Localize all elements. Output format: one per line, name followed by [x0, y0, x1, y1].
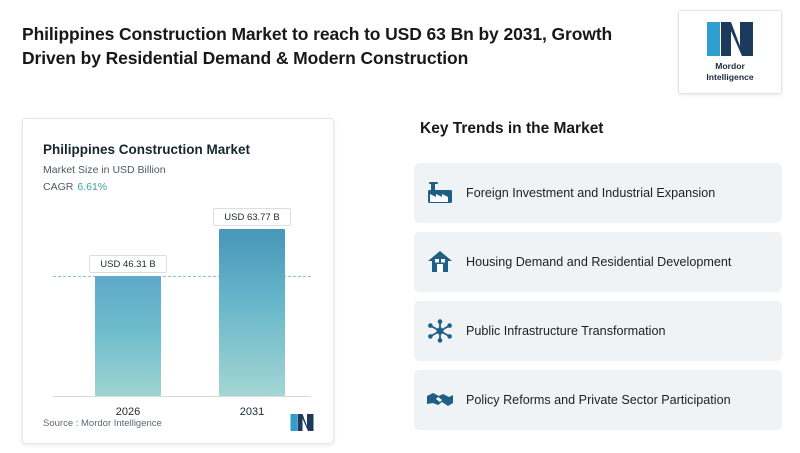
brand-logo: Mordor Intelligence [678, 10, 782, 94]
brand-logo-line1: Mordor [706, 61, 753, 72]
source-logo-icon [289, 414, 315, 431]
list-item[interactable]: Policy Reforms and Private Sector Partic… [414, 370, 782, 430]
bar-value-label-2031: USD 63.77 B [213, 208, 291, 226]
list-item[interactable]: Foreign Investment and Industrial Expans… [414, 163, 782, 223]
brand-logo-text: Mordor Intelligence [706, 61, 753, 82]
list-item[interactable]: Housing Demand and Residential Developme… [414, 232, 782, 292]
page-title: Philippines Construction Market to reach… [22, 22, 662, 70]
chart-plot-area: USD 46.31 B USD 63.77 B 2026 2031 [23, 119, 335, 445]
x-axis-line [53, 396, 311, 397]
trend-label: Foreign Investment and Industrial Expans… [466, 185, 729, 202]
mordor-intelligence-logo-icon [707, 22, 753, 56]
x-tick-2026: 2026 [83, 406, 173, 418]
key-trends-list: Foreign Investment and Industrial Expans… [414, 163, 782, 439]
header: Philippines Construction Market to reach… [0, 0, 800, 104]
network-node-icon [414, 301, 466, 361]
trend-label: Housing Demand and Residential Developme… [466, 254, 745, 271]
trend-label: Policy Reforms and Private Sector Partic… [466, 392, 745, 409]
key-trends-heading: Key Trends in the Market [420, 120, 603, 138]
x-tick-2031: 2031 [207, 406, 297, 418]
handshake-icon [414, 370, 466, 430]
chart-source: Source : Mordor Intelligence [43, 418, 162, 429]
trend-label: Public Infrastructure Transformation [466, 323, 679, 340]
brand-logo-line2: Intelligence [706, 72, 753, 83]
bar-2026 [95, 276, 161, 396]
factory-icon [414, 163, 466, 223]
market-size-chart-card: Philippines Construction Market Market S… [22, 118, 334, 444]
infographic-page: Philippines Construction Market to reach… [0, 0, 800, 453]
house-icon [414, 232, 466, 292]
bar-2031 [219, 229, 285, 396]
bar-value-label-2026: USD 46.31 B [89, 255, 167, 273]
list-item[interactable]: Public Infrastructure Transformation [414, 301, 782, 361]
